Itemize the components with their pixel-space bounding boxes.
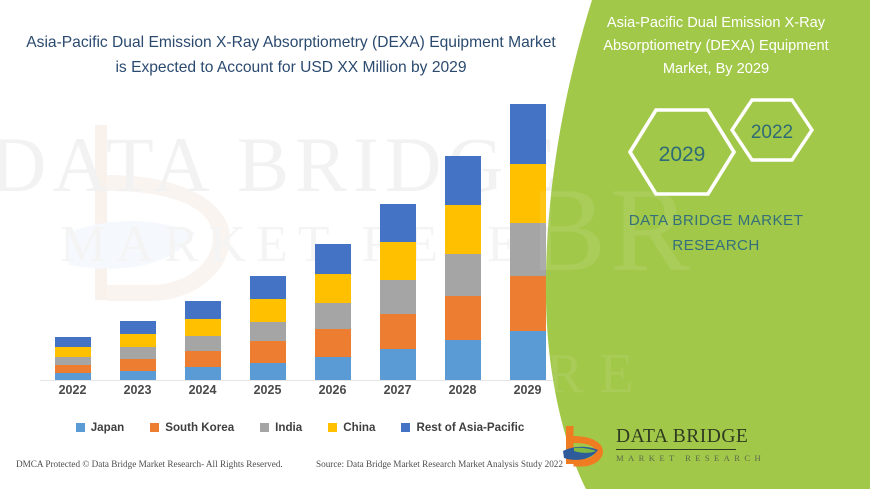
footer-copyright: DMCA Protected © Data Bridge Market Rese… [16, 459, 283, 469]
page-title: Asia-Pacific Dual Emission X-Ray Absorpt… [26, 30, 556, 80]
x-axis-label: 2024 [170, 383, 235, 403]
legend-item[interactable]: South Korea [150, 421, 234, 434]
bar-segment [120, 334, 156, 347]
bar-segment [120, 359, 156, 371]
hexagon-2022-label: 2022 [751, 122, 793, 143]
stacked-bar [315, 244, 351, 380]
bar-segment [55, 365, 91, 374]
logo-subtitle: MARKET RESEARCH [616, 453, 765, 463]
legend-label: South Korea [165, 421, 234, 434]
bar-segment [250, 299, 286, 321]
bar-segment [250, 322, 286, 342]
bar-column [300, 96, 365, 380]
bar-segment [315, 357, 351, 380]
panel-title: Asia-Pacific Dual Emission X-Ray Absorpt… [580, 12, 852, 81]
x-axis-label: 2026 [300, 383, 365, 403]
bar-segment [315, 244, 351, 274]
bar-segment [120, 321, 156, 335]
bar-segment [380, 349, 416, 380]
bar-segment [185, 367, 221, 380]
bar-segment [315, 274, 351, 303]
legend-swatch-icon [401, 423, 410, 432]
x-axis-labels: 20222023202420252026202720282029 [40, 383, 560, 403]
footer: DMCA Protected © Data Bridge Market Rese… [0, 459, 580, 481]
bar-column [170, 96, 235, 380]
bar-segment [250, 341, 286, 363]
bar-column [430, 96, 495, 380]
hexagon-2029-label: 2029 [659, 143, 706, 166]
bar-segment [185, 336, 221, 351]
x-axis-label: 2027 [365, 383, 430, 403]
bar-segment [55, 357, 91, 365]
bar-segment [380, 204, 416, 243]
chart-legend: JapanSouth KoreaIndiaChinaRest of Asia-P… [40, 417, 560, 437]
infographic-canvas: DATA BRIDGE MARKET RESEARCH Asia-Pacific… [0, 0, 870, 489]
stacked-bar [380, 204, 416, 380]
legend-item[interactable]: China [328, 421, 375, 434]
bar-column [235, 96, 300, 380]
legend-swatch-icon [260, 423, 269, 432]
bar-segment [445, 296, 481, 341]
legend-label: India [275, 421, 302, 434]
bar-segment [380, 280, 416, 314]
hexagon-group: 2022 2029 [600, 92, 850, 202]
bar-segment [445, 340, 481, 380]
x-axis-line [40, 380, 560, 381]
x-axis-label: 2028 [430, 383, 495, 403]
bar-segment [445, 156, 481, 205]
stacked-bar [120, 321, 156, 380]
legend-item[interactable]: Japan [76, 421, 125, 434]
bar-segment [380, 242, 416, 280]
bar-segment [315, 303, 351, 329]
bar-segment [55, 337, 91, 347]
stacked-bar [445, 156, 481, 380]
chart-bars [40, 96, 560, 380]
stacked-bar [55, 337, 91, 380]
brand-name-line1: DATA BRIDGE MARKET [580, 208, 852, 233]
legend-label: Rest of Asia-Pacific [416, 421, 524, 434]
legend-swatch-icon [150, 423, 159, 432]
footer-source: Source: Data Bridge Market Research Mark… [316, 459, 563, 469]
stacked-bar [185, 301, 221, 380]
legend-item[interactable]: India [260, 421, 302, 434]
bar-segment [55, 373, 91, 380]
right-green-panel: BR RE Asia-Pacific Dual Emission X-Ray A… [540, 0, 870, 489]
bar-column [105, 96, 170, 380]
bar-segment [250, 276, 286, 299]
bar-segment [250, 363, 286, 380]
bar-segment [445, 205, 481, 253]
logo-wordmark: DATA BRIDGE MARKET RESEARCH [616, 426, 765, 463]
bar-segment [120, 371, 156, 380]
bar-segment [445, 254, 481, 296]
stacked-bar-chart [40, 96, 560, 381]
x-axis-label: 2022 [40, 383, 105, 403]
legend-item[interactable]: Rest of Asia-Pacific [401, 421, 524, 434]
bar-segment [185, 301, 221, 319]
bar-segment [55, 347, 91, 356]
legend-label: Japan [91, 421, 125, 434]
hexagon-shapes: 2022 2029 [600, 92, 850, 202]
x-axis-label: 2023 [105, 383, 170, 403]
dbmr-b-logo-icon [562, 424, 610, 470]
legend-label: China [343, 421, 375, 434]
x-axis-label: 2025 [235, 383, 300, 403]
brand-name: DATA BRIDGE MARKET RESEARCH [580, 208, 852, 258]
legend-swatch-icon [76, 423, 85, 432]
bar-segment [120, 347, 156, 358]
bar-segment [185, 351, 221, 367]
bar-column [40, 96, 105, 380]
logo-title: DATA BRIDGE [616, 426, 765, 448]
dbmr-logo: DATA BRIDGE MARKET RESEARCH [562, 422, 852, 474]
logo-divider [616, 449, 736, 450]
bar-segment [185, 319, 221, 336]
bar-segment [380, 314, 416, 349]
brand-name-line2: RESEARCH [580, 233, 852, 258]
legend-swatch-icon [328, 423, 337, 432]
bar-segment [315, 329, 351, 357]
stacked-bar [250, 276, 286, 380]
bar-column [365, 96, 430, 380]
